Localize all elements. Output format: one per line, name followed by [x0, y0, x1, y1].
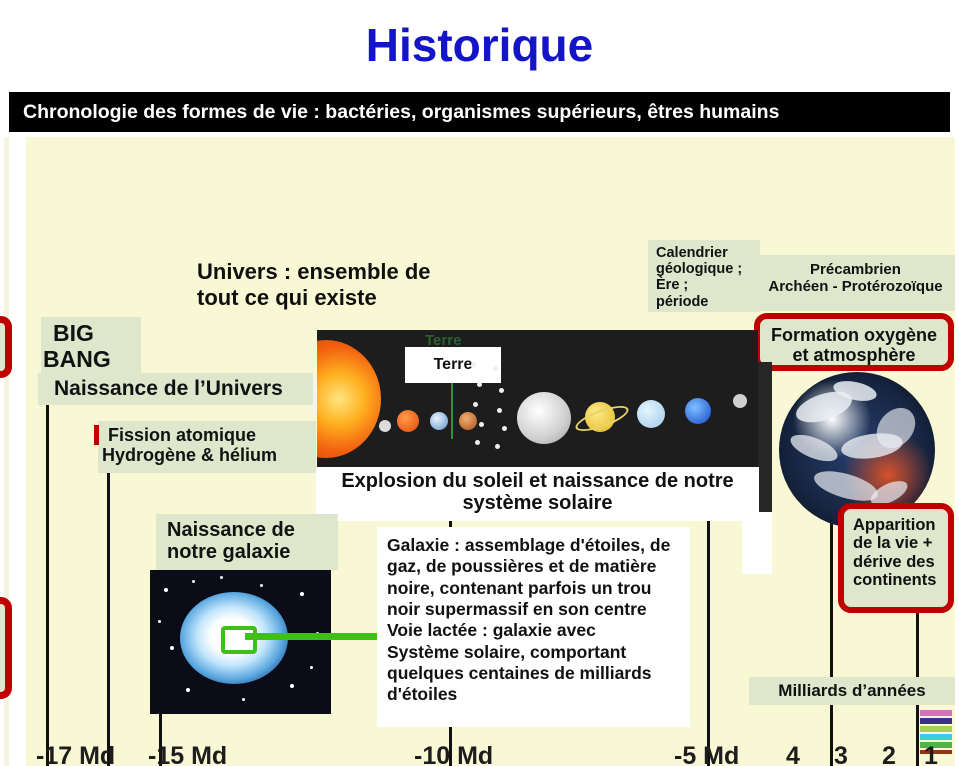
axis-label-1: -15 Md: [148, 742, 227, 766]
galaxie-line-4: noir supermassif en son centre: [387, 599, 690, 620]
precambrien-label: Précambrien Archéen - Protérozoïque: [756, 255, 955, 311]
figure-banner-text: Chronologie des formes de vie : bactérie…: [23, 101, 779, 124]
apparition-line-1: Apparition: [853, 516, 948, 534]
univers-annotation: Univers : ensemble de tout ce qui existe: [197, 259, 497, 317]
strat-band-3: [920, 726, 952, 732]
planet-earth: [430, 412, 448, 430]
calendrier-line-2: géologique ;: [656, 261, 760, 277]
fission-line-2: Hydrogène & hélium: [102, 445, 316, 465]
naissance-univers-label: Naissance de l’Univers: [38, 373, 313, 405]
explosion-line-1: Explosion du soleil et naissance de notr…: [316, 470, 759, 492]
axis-tick-17: [46, 382, 49, 766]
fission-label: Fission atomique Hydrogène & hélium: [98, 421, 316, 473]
slide: Historique Chronologie des formes de vie…: [0, 0, 959, 709]
strat-band-2: [920, 718, 952, 724]
apparition-line-3: dérive des: [853, 553, 948, 571]
explosion-caption: Explosion du soleil et naissance de notr…: [316, 467, 759, 521]
calendrier-line-4: période: [656, 294, 760, 310]
planet-jupiter: [517, 392, 571, 444]
calendrier-line-3: Ère ;: [656, 277, 760, 293]
univers-line-1: Univers : ensemble de: [197, 259, 497, 285]
galaxie-line-8: d'étoiles: [387, 684, 690, 705]
planet-uranus: [637, 400, 665, 428]
axis-label-5: 3: [834, 742, 848, 766]
galaxie-line-6: Système solaire, comportant: [387, 642, 690, 663]
precambrien-line-2: Archéen - Protérozoïque: [756, 279, 955, 296]
planet-venus: [397, 410, 419, 432]
galaxie-line-3: noire, contenant parfois un trou: [387, 578, 690, 599]
explosion-line-2: système solaire: [316, 492, 759, 514]
fission-red-marker: [94, 425, 99, 445]
naissance-galaxie-label: Naissance de notre galaxie: [156, 514, 338, 570]
axis-unit-text: Milliards d’années: [778, 681, 925, 701]
photo-strip-white: [742, 512, 772, 574]
univers-line-2: tout ce qui existe: [197, 285, 497, 311]
left-edge-red-shape-2: [0, 597, 12, 699]
calendrier-label: Calendrier géologique ; Ère ; période: [648, 240, 760, 312]
arrow-horizontal: [245, 633, 395, 640]
axis-label-3: -5 Md: [674, 742, 739, 766]
timeline-canvas: Univers : ensemble de tout ce qui existe…: [26, 137, 955, 766]
formation-oxygene-box: Formation oxygène et atmosphère: [754, 313, 954, 371]
galaxie-line-5: Voie lactée : galaxie avec: [387, 620, 690, 641]
formation-oxygene-line-2: et atmosphère: [760, 345, 948, 365]
strat-band-1: [920, 710, 952, 716]
big-bang-label: BIG BANG: [41, 317, 141, 373]
formation-oxygene-line-1: Formation oxygène: [760, 325, 948, 345]
axis-label-7: 1: [924, 742, 938, 766]
left-edge-red-shape-1: [0, 316, 12, 378]
galaxie-line-2: gaz, de poussières et de matière: [387, 556, 690, 577]
terre-callout: Terre: [405, 347, 501, 383]
solar-system-image: Terre Terre: [317, 330, 758, 467]
calendrier-line-1: Calendrier: [656, 245, 760, 261]
strat-band-4: [920, 734, 952, 740]
apparition-vie-box: Apparition de la vie + dérive des contin…: [838, 503, 954, 613]
axis-label-2: -10 Md: [414, 742, 493, 766]
naissance-galaxie-line-2: notre galaxie: [167, 541, 338, 563]
figure-container: Chronologie des formes de vie : bactérie…: [4, 92, 955, 709]
galaxie-line-7: quelques centaines de milliards: [387, 663, 690, 684]
sun-icon: [317, 340, 381, 458]
axis-label-4: 4: [786, 742, 800, 766]
page-title: Historique: [0, 18, 959, 72]
apparition-line-4: continents: [853, 571, 948, 589]
terre-callout-text: Terre: [434, 356, 473, 374]
axis-label-0: -17 Md: [36, 742, 115, 766]
axis-tick-15: [107, 427, 110, 766]
axis-unit-label: Milliards d’années: [749, 677, 955, 705]
apparition-line-2: de la vie +: [853, 534, 948, 552]
naissance-galaxie-line-1: Naissance de: [167, 519, 338, 541]
planet-pluto: [733, 394, 747, 408]
planet-mars: [459, 412, 477, 430]
planet-neptune: [685, 398, 711, 424]
fission-line-1: Fission atomique: [108, 425, 316, 445]
axis-label-6: 2: [882, 742, 896, 766]
terre-leader-line: [451, 383, 453, 439]
galaxy-marker-box: [221, 626, 257, 654]
galaxie-definition-box: Galaxie : assemblage d'étoiles, de gaz, …: [377, 527, 690, 727]
figure-banner: Chronologie des formes de vie : bactérie…: [9, 92, 950, 132]
galaxie-line-1: Galaxie : assemblage d'étoiles, de: [387, 535, 690, 556]
big-bang-line-2: BANG: [43, 347, 141, 373]
naissance-univers-text: Naissance de l’Univers: [54, 377, 283, 400]
planet-mercury: [379, 420, 391, 432]
precambrien-line-1: Précambrien: [756, 262, 955, 279]
big-bang-line-1: BIG: [53, 321, 141, 347]
